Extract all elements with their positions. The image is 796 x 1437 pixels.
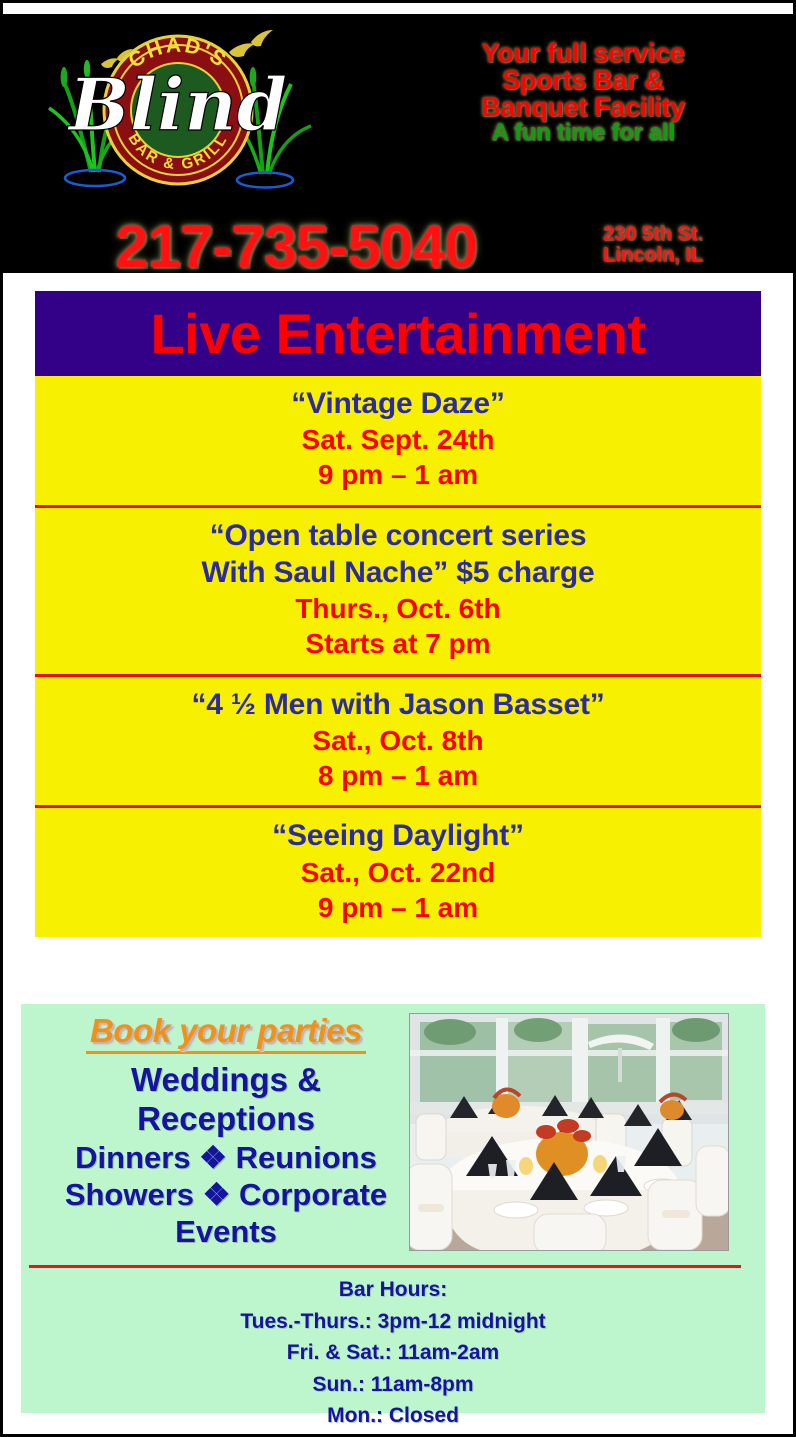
services-line-2: Showers ❖ Corporate	[41, 1176, 411, 1213]
address-block: 230 5th St. Lincoln, IL	[563, 224, 743, 266]
header-band: CHAD'S BAR & GRILL Blind Your full servi…	[3, 14, 793, 273]
event-time: 8 pm – 1 am	[41, 758, 755, 793]
event-name: “Seeing Daylight”	[41, 817, 755, 854]
event-date: Sat., Oct. 22nd	[41, 855, 755, 890]
event-date: Sat. Sept. 24th	[41, 422, 755, 457]
tagline-line-1: Your full service	[423, 40, 743, 67]
hours-divider	[29, 1265, 741, 1268]
event-item: “4 ½ Men with Jason Basset” Sat., Oct. 8…	[35, 674, 761, 806]
hours-line-1: Tues.-Thurs.: 3pm-12 midnight	[21, 1306, 765, 1338]
event-name: “4 ½ Men with Jason Basset”	[41, 686, 755, 723]
hours-line-3: Sun.: 11am-8pm	[21, 1369, 765, 1401]
event-name: “Vintage Daze”	[41, 385, 755, 422]
tagline-line-2: Sports Bar &	[423, 67, 743, 94]
event-item: “Seeing Daylight” Sat., Oct. 22nd 9 pm –…	[35, 805, 761, 937]
bar-hours-heading: Bar Hours:	[21, 1274, 765, 1306]
flying-duck-icon-2	[229, 30, 273, 57]
event-time: 9 pm – 1 am	[41, 457, 755, 492]
hours-line-2: Fri. & Sat.: 11am-2am	[21, 1337, 765, 1369]
tagline-block: Your full service Sports Bar & Banquet F…	[423, 40, 743, 145]
logo-script-text: Blind	[67, 62, 287, 147]
address-street: 230 5th St.	[563, 224, 743, 245]
entertainment-heading: Live Entertainment	[35, 291, 761, 376]
event-list: “Vintage Daze” Sat. Sept. 24th 9 pm – 1 …	[35, 376, 761, 937]
event-date: Thurs., Oct. 6th	[41, 591, 755, 626]
event-time: Starts at 7 pm	[41, 626, 755, 661]
event-date: Sat., Oct. 8th	[41, 723, 755, 758]
services-line-3: Events	[41, 1213, 411, 1250]
hours-line-4: Mon.: Closed	[21, 1400, 765, 1432]
advertisement-page: CHAD'S BAR & GRILL Blind Your full servi…	[0, 0, 796, 1437]
bar-hours-block: Bar Hours: Tues.-Thurs.: 3pm-12 midnight…	[21, 1274, 765, 1432]
business-logo: CHAD'S BAR & GRILL Blind	[33, 22, 323, 202]
window-group	[410, 1018, 728, 1114]
book-parties-heading: Book your parties	[86, 1012, 366, 1054]
banquet-room-photo	[409, 1013, 729, 1251]
event-name: “Open table concert seriesWith Saul Nach…	[41, 517, 755, 591]
event-item: “Open table concert seriesWith Saul Nach…	[35, 505, 761, 674]
event-time: 9 pm – 1 am	[41, 890, 755, 925]
tagline-fun: A fun time for all	[423, 121, 743, 145]
parties-text-block: Book your parties Weddings &Receptions D…	[41, 1012, 411, 1250]
address-city: Lincoln, IL	[563, 245, 743, 266]
event-item: “Vintage Daze” Sat. Sept. 24th 9 pm – 1 …	[35, 376, 761, 505]
entertainment-banner: Live Entertainment	[35, 291, 761, 376]
phone-number[interactable]: 217-735-5040	[81, 212, 511, 273]
tagline-line-3: Banquet Facility	[423, 94, 743, 121]
services-line-1: Dinners ❖ Reunions	[41, 1139, 411, 1176]
weddings-receptions-text: Weddings &Receptions	[41, 1061, 411, 1139]
logo-graphic: CHAD'S BAR & GRILL Blind	[33, 22, 323, 202]
banquet-room-illustration	[410, 1014, 728, 1250]
